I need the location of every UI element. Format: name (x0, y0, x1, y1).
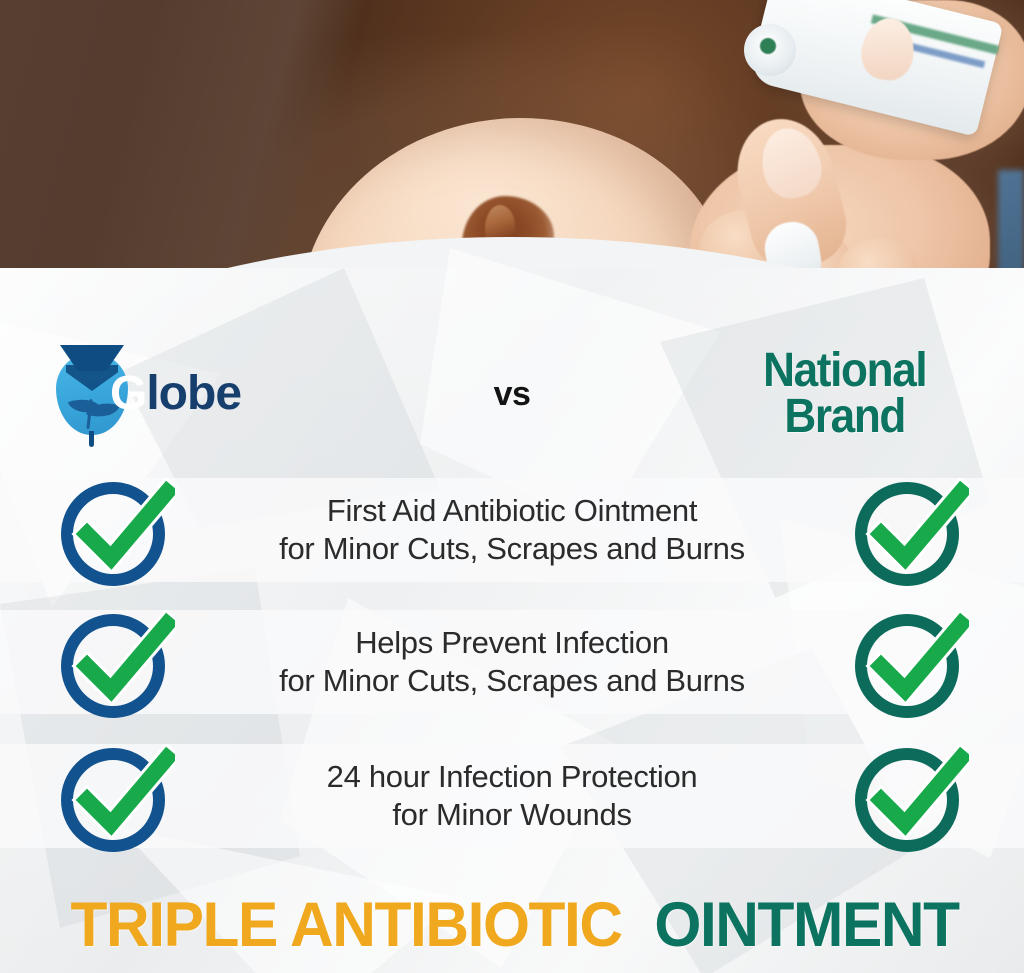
check-tick-icon (861, 610, 969, 718)
feature-line2: for Minor Cuts, Scrapes and Burns (240, 530, 784, 568)
check-circle-icon-left (53, 468, 177, 592)
check-cell-left (0, 468, 230, 592)
feature-text: 24 hour Infection Protection for Minor W… (230, 758, 794, 834)
check-cell-right (794, 468, 1024, 592)
logo-letters-rest: lobe (146, 367, 241, 420)
feature-line2: for Minor Wounds (240, 796, 784, 834)
feature-row: Helps Prevent Infection for Minor Cuts, … (0, 610, 1024, 714)
feature-row: 24 hour Infection Protection for Minor W… (0, 744, 1024, 848)
check-cell-left (0, 600, 230, 724)
infographic-root: Globe vs National Brand (0, 0, 1024, 973)
comparison-panel: Globe vs National Brand (0, 268, 1024, 973)
check-circle-icon-left (53, 734, 177, 858)
feature-line2: for Minor Cuts, Scrapes and Burns (240, 662, 784, 700)
check-tick-icon (861, 744, 969, 852)
logo-letter-g: G (110, 367, 146, 420)
check-cell-right (794, 600, 1024, 724)
check-circle-icon-right (847, 600, 971, 724)
check-cell-right (794, 734, 1024, 858)
check-circle-icon-left (53, 600, 177, 724)
product-title: TRIPLE ANTIBIOTICOINTMENT (0, 889, 1024, 961)
check-cell-left (0, 734, 230, 858)
brand-left-wordmark: Globe (110, 370, 241, 418)
check-tick-icon (861, 478, 969, 586)
feature-line1: First Aid Antibiotic Ointment (327, 493, 697, 528)
feature-line1: 24 hour Infection Protection (327, 759, 698, 794)
check-circle-icon-right (847, 468, 971, 592)
product-title-part1: TRIPLE ANTIBIOTIC (71, 889, 622, 961)
check-tick-icon (67, 478, 175, 586)
feature-row: First Aid Antibiotic Ointment for Minor … (0, 478, 1024, 582)
feature-text: First Aid Antibiotic Ointment for Minor … (230, 492, 794, 568)
check-circle-icon-right (847, 734, 971, 858)
product-title-part2: OINTMENT (654, 889, 958, 961)
tube-nozzle-icon (760, 38, 776, 54)
check-tick-icon (67, 610, 175, 718)
feature-text: Helps Prevent Infection for Minor Cuts, … (230, 624, 794, 700)
check-tick-icon (67, 744, 175, 852)
feature-line1: Helps Prevent Infection (355, 625, 669, 660)
